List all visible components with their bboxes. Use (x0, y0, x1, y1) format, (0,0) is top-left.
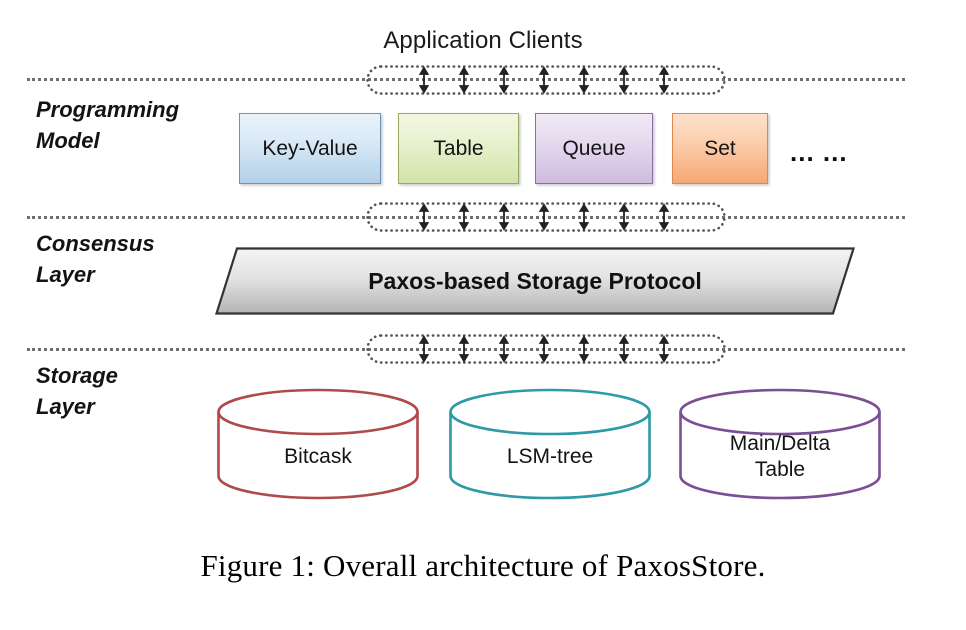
programming-model-box-label: Set (704, 137, 736, 161)
programming-model-box-label: Key-Value (262, 137, 357, 161)
storage-cylinder-lsm-tree[interactable]: LSM-tree (448, 388, 652, 500)
layer-label-consensus-layer: Consensus Layer (36, 228, 236, 290)
storage-cylinder-main-delta-table[interactable]: Main/Delta Table (678, 388, 882, 500)
bus-programming-model-to-consensus (366, 202, 726, 232)
programming-model-box-key-value[interactable]: Key-Value (239, 113, 381, 184)
figure-paxosstore-architecture: Application Clients Programming Model Co… (0, 0, 966, 630)
figure-caption: Figure 1: Overall architecture of PaxosS… (0, 548, 966, 584)
bus-consensus-to-storage (366, 334, 726, 364)
programming-model-box-label: Table (433, 137, 483, 161)
programming-model-more-ellipsis: ... ... (790, 137, 848, 168)
application-clients-title: Application Clients (0, 27, 966, 55)
bus-clients-to-programming-model (366, 65, 726, 95)
programming-model-box-set[interactable]: Set (672, 113, 768, 184)
storage-cylinder-bitcask[interactable]: Bitcask (216, 388, 420, 500)
programming-model-box-table[interactable]: Table (398, 113, 519, 184)
layer-label-storage-layer: Storage Layer (36, 360, 236, 422)
layer-label-programming-model: Programming Model (36, 94, 236, 156)
paxos-protocol-trapezoid[interactable] (215, 247, 855, 315)
programming-model-box-label: Queue (562, 137, 625, 161)
programming-model-box-queue[interactable]: Queue (535, 113, 653, 184)
